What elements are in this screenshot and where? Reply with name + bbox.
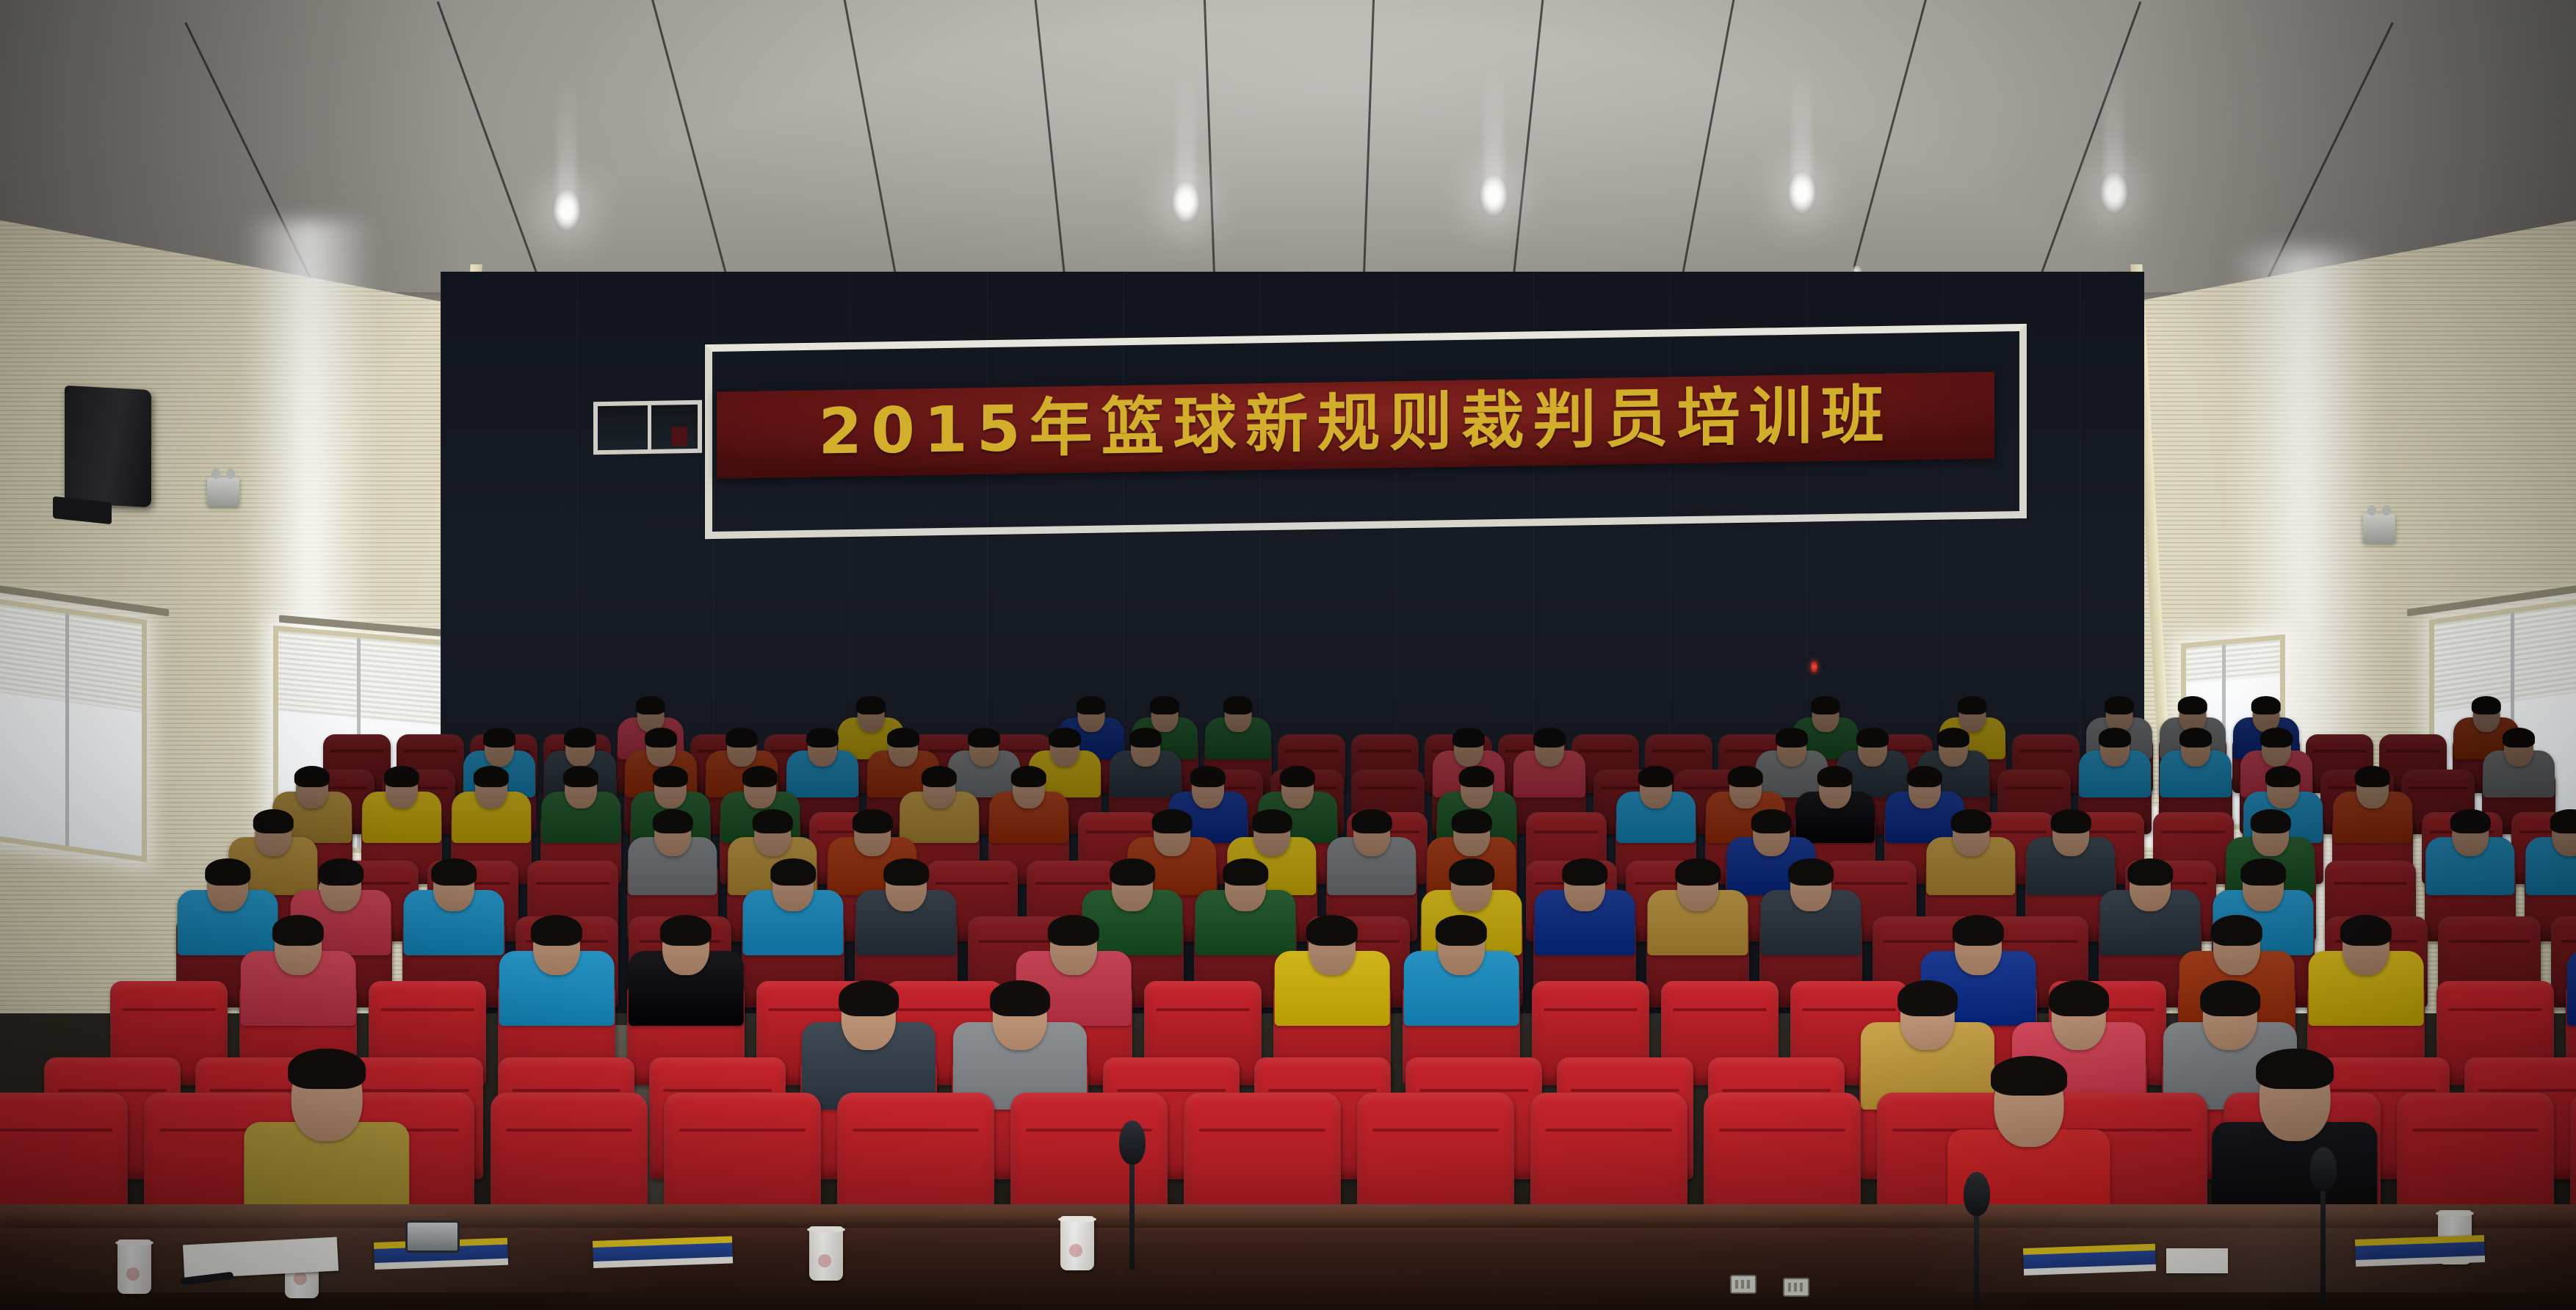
attendee-hair xyxy=(1110,858,1155,886)
attendee xyxy=(626,916,745,1026)
attendee-hair xyxy=(1533,728,1566,747)
attendee-hair xyxy=(2340,915,2392,946)
attendee-hair xyxy=(2265,766,2301,787)
training-booklet[interactable] xyxy=(593,1236,733,1263)
projection-booth-window xyxy=(593,400,702,455)
attendee-hair xyxy=(806,728,839,747)
attendee xyxy=(238,916,358,1026)
attendee xyxy=(626,811,719,896)
attendee-hair xyxy=(1638,766,1674,787)
attendee-hair xyxy=(2099,728,2131,747)
attendee-hair xyxy=(1897,980,1958,1016)
attendee xyxy=(988,767,1070,843)
attendee-hair xyxy=(1152,809,1193,833)
training-booklet[interactable] xyxy=(2355,1235,2485,1262)
floor-socket[interactable] xyxy=(1730,1275,1756,1294)
attendee-hair xyxy=(1776,728,1808,747)
attendee-hair xyxy=(205,858,250,886)
ceiling-spotlight xyxy=(2099,170,2129,214)
attendee-hair xyxy=(2251,809,2291,833)
gooseneck-microphone[interactable] xyxy=(1129,1153,1135,1270)
attendee-hair xyxy=(653,766,688,787)
gooseneck-microphone[interactable] xyxy=(1974,1204,1979,1307)
attendee-hair xyxy=(431,858,477,886)
screen-led-indicator xyxy=(1811,661,1817,673)
attendee-hair xyxy=(1937,728,1969,747)
attendee xyxy=(2077,729,2152,797)
attendee-hair xyxy=(1306,915,1358,946)
attendee xyxy=(950,982,1090,1110)
ceiling-spotlight xyxy=(1787,170,1817,214)
wall-speaker-icon xyxy=(65,386,151,507)
attendee xyxy=(2331,767,2414,843)
window-blind xyxy=(2434,602,2576,712)
attendee-hair xyxy=(1150,696,1179,714)
attendee xyxy=(496,916,616,1026)
floor-socket[interactable] xyxy=(1783,1278,1809,1297)
attendee-hair xyxy=(483,728,515,747)
window-mullion xyxy=(65,614,69,847)
attendee-hair xyxy=(474,766,509,787)
attendee-hair xyxy=(1951,809,1991,833)
attendee xyxy=(2564,916,2576,1026)
attendee-hair xyxy=(1049,728,1081,747)
attendee-hair xyxy=(653,809,693,833)
attendee xyxy=(1646,860,1751,955)
attendee-hair xyxy=(968,728,1000,747)
attendee xyxy=(1533,860,1638,955)
attendee-hair xyxy=(856,696,886,714)
attendee-hair xyxy=(2051,809,2091,833)
attendee-hair xyxy=(288,1049,366,1089)
attendee-hair xyxy=(1129,728,1162,747)
wall-lamp-left-icon xyxy=(207,477,239,507)
attendee xyxy=(1512,729,1587,797)
attendee xyxy=(1204,698,1273,759)
attendee xyxy=(2158,729,2233,797)
mobile-phone[interactable] xyxy=(405,1220,460,1253)
attendee-hair xyxy=(742,766,778,787)
attendee-hair xyxy=(1953,915,2004,946)
training-booklet[interactable] xyxy=(2023,1244,2156,1270)
attendee-hair xyxy=(253,809,294,833)
paper-cup[interactable] xyxy=(809,1226,843,1281)
attendee-hair xyxy=(990,980,1050,1016)
attendee-hair xyxy=(2211,915,2262,946)
attendee xyxy=(1615,767,1697,843)
attendee-hair xyxy=(1751,809,1792,833)
attendee-hair xyxy=(1190,766,1226,787)
attendee-hair xyxy=(636,696,665,714)
attendee-hair xyxy=(1562,858,1607,886)
handout-paper[interactable] xyxy=(2166,1248,2228,1273)
attendee-hair xyxy=(2450,809,2491,833)
attendee xyxy=(450,767,532,843)
attendee-hair xyxy=(1907,766,1942,787)
attendee-hair xyxy=(2355,766,2390,787)
attendee-hair xyxy=(645,728,677,747)
attendee-hair xyxy=(2260,728,2293,747)
attendee-hair xyxy=(1223,858,1268,886)
attendee-hair xyxy=(1223,696,1253,714)
attendee-hair xyxy=(2251,696,2281,714)
attendee xyxy=(2424,811,2517,896)
attendee-hair xyxy=(563,766,598,787)
attendee-hair xyxy=(2550,809,2576,833)
attendee-hair xyxy=(770,858,816,886)
attendee-hair xyxy=(1252,809,1292,833)
attendee-hair xyxy=(384,766,419,787)
attendee xyxy=(540,767,622,843)
attendee-hair xyxy=(660,915,712,946)
attendee-hair xyxy=(1452,809,1492,833)
attendee xyxy=(2481,729,2556,797)
attendee xyxy=(1325,811,1418,896)
attendee-hair xyxy=(853,809,893,833)
booth-mullion xyxy=(648,405,651,449)
attendee-hair xyxy=(1991,1056,2067,1096)
attendee-hair xyxy=(272,915,324,946)
paper-cup[interactable] xyxy=(1060,1216,1094,1270)
attendee-hair xyxy=(883,858,929,886)
attendee-hair xyxy=(1011,766,1046,787)
attendee-hair xyxy=(1958,696,1987,714)
attendee-hair xyxy=(2049,980,2109,1016)
attendee-hair xyxy=(1788,858,1834,886)
attendee-torso xyxy=(2567,951,2576,1026)
microphone-capsule xyxy=(1964,1172,1990,1216)
attendee-hair xyxy=(2472,696,2501,714)
attendee xyxy=(1925,811,2017,896)
attendee-hair xyxy=(2179,728,2212,747)
attendee-hair xyxy=(1811,696,1840,714)
attendee-hair xyxy=(753,809,793,833)
attendee-hair xyxy=(2240,858,2286,886)
attendee xyxy=(1401,916,1521,1026)
attendee xyxy=(854,860,959,955)
attendee-hair xyxy=(1449,858,1494,886)
attendee xyxy=(2306,916,2425,1026)
attendee-hair xyxy=(1048,915,1099,946)
attendee-hair xyxy=(1436,915,1487,946)
microphone-capsule xyxy=(2310,1147,2337,1191)
attendee-hair xyxy=(1077,696,1106,714)
attendee-hair xyxy=(2200,980,2260,1016)
window-blind xyxy=(2186,640,2280,684)
attendee-hair xyxy=(1452,728,1485,747)
attendee-hair xyxy=(1856,728,1889,747)
attendee-hair xyxy=(318,858,363,886)
attendee-hair xyxy=(839,980,899,1016)
attendee-hair xyxy=(564,728,596,747)
attendee xyxy=(1759,860,1864,955)
wall-lamp-right-icon xyxy=(2363,514,2395,543)
ceiling-spotlight xyxy=(1479,173,1508,217)
attendee-hair xyxy=(1280,766,1315,787)
attendee-hair xyxy=(1728,766,1763,787)
attendee-hair xyxy=(2256,1049,2334,1089)
ceiling-spotlight xyxy=(552,188,582,232)
ceiling-spotlight xyxy=(1171,180,1201,224)
attendee-hair xyxy=(1675,858,1721,886)
attendee-hair xyxy=(922,766,957,787)
attendee-hair xyxy=(1352,809,1392,833)
attendee xyxy=(361,767,443,843)
attendee-hair xyxy=(887,728,919,747)
window-blind xyxy=(0,602,142,712)
attendee xyxy=(402,860,507,955)
gooseneck-microphone[interactable] xyxy=(2320,1179,2326,1304)
attendee xyxy=(2524,811,2576,896)
attendee-hair xyxy=(726,728,758,747)
booth-equipment xyxy=(671,427,687,446)
attendee xyxy=(741,860,846,955)
microphone-capsule xyxy=(1119,1121,1146,1165)
attendee xyxy=(799,982,938,1110)
attendee-hair xyxy=(1459,766,1494,787)
paper-cup[interactable] xyxy=(117,1240,151,1294)
attendee-hair xyxy=(2127,858,2173,886)
attendee xyxy=(1272,916,1392,1026)
banner-title: 2015年篮球新规则裁判员培训班 xyxy=(818,384,1892,464)
auditorium-photo: 2015年篮球新规则裁判员培训班 xyxy=(0,0,2576,1310)
attendee-hair xyxy=(2178,696,2207,714)
attendee-hair xyxy=(2503,728,2535,747)
attendee-hair xyxy=(2105,696,2134,714)
attendee-hair xyxy=(1817,766,1853,787)
attendee-hair xyxy=(531,915,582,946)
window-left-outer xyxy=(0,596,147,862)
attendee-hair xyxy=(294,766,330,787)
